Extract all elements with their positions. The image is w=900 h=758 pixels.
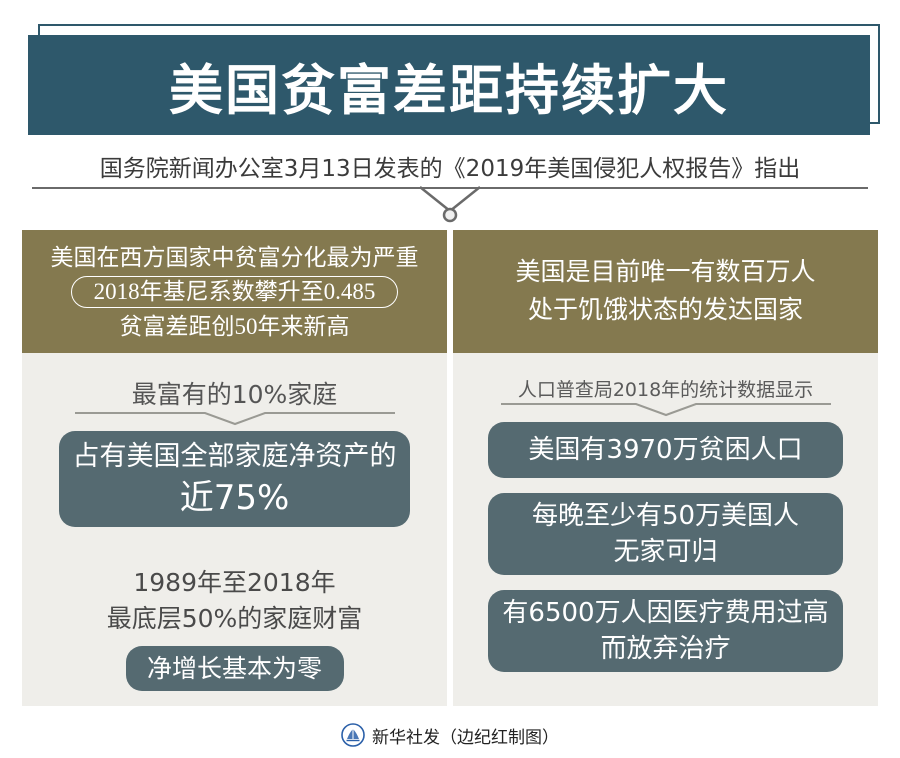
left-panel-body: 最富有的10%家庭 占有美国全部家庭净资产的 近75% 1989年至2018年 … xyxy=(22,353,447,706)
right-callout-1-line-1: 美国有3970万贫困人口 xyxy=(528,432,802,468)
left-callout-main-line-1: 占有美国全部家庭净资产的 xyxy=(73,438,397,476)
right-header-line-2: 处于饥饿状态的发达国家 xyxy=(528,292,803,330)
left-lead-divider xyxy=(75,411,395,427)
left-header-line-3: 贫富差距创50年来新高 xyxy=(120,310,350,343)
right-callout-3-line-1: 有6500万人因医疗费用过高 xyxy=(502,595,828,631)
content-columns: 美国在西方国家中贫富分化最为严重 2018年基尼系数攀升至0.485 贫富差距创… xyxy=(22,230,878,706)
left-callout-zero-text: 净增长基本为零 xyxy=(147,651,322,687)
xinhua-logo-icon xyxy=(341,723,365,747)
left-callout-zero: 净增长基本为零 xyxy=(126,646,344,691)
footer: 新华社发（边纪红制图） xyxy=(0,712,900,758)
left-header-line-1: 美国在西方国家中贫富分化最为严重 xyxy=(51,241,419,274)
left-callout-main-line-2: 近75% xyxy=(180,476,290,520)
title-banner: 美国贫富差距持续扩大 xyxy=(28,35,870,135)
right-panel-header: 美国是目前唯一有数百万人 处于饥饿状态的发达国家 xyxy=(453,230,878,353)
chevron-down-icon xyxy=(501,402,831,418)
left-callout-main: 占有美国全部家庭净资产的 近75% xyxy=(59,431,410,527)
right-callout-3: 有6500万人因医疗费用过高 而放弃治疗 xyxy=(488,590,843,672)
pin-marker-icon xyxy=(400,181,500,225)
page-title: 美国贫富差距持续扩大 xyxy=(169,46,729,125)
right-lead-divider xyxy=(501,402,831,418)
subtitle-text: 国务院新闻办公室3月13日发表的《2019年美国侵犯人权报告》指出 xyxy=(0,149,900,183)
right-panel: 美国是目前唯一有数百万人 处于饥饿状态的发达国家 人口普查局2018年的统计数据… xyxy=(453,230,878,706)
left-panel-header: 美国在西方国家中贫富分化最为严重 2018年基尼系数攀升至0.485 贫富差距创… xyxy=(22,230,447,353)
left-lead-label: 最富有的10%家庭 xyxy=(132,375,338,411)
right-callout-2: 每晚至少有50万美国人 无家可归 xyxy=(488,493,843,575)
right-lead-label: 人口普查局2018年的统计数据显示 xyxy=(518,375,813,402)
footer-credit: 新华社发（边纪红制图） xyxy=(372,723,559,748)
right-callout-2-line-2: 无家可归 xyxy=(613,534,717,570)
chevron-down-icon xyxy=(75,411,395,427)
title-area: 美国贫富差距持续扩大 xyxy=(0,0,900,145)
left-header-pill: 2018年基尼系数攀升至0.485 xyxy=(71,276,399,308)
right-callout-1: 美国有3970万贫困人口 xyxy=(488,422,843,478)
left-plain-line-2: 最底层50%的家庭财富 xyxy=(107,601,363,637)
subtitle-area: 国务院新闻办公室3月13日发表的《2019年美国侵犯人权报告》指出 xyxy=(0,145,900,225)
left-panel: 美国在西方国家中贫富分化最为严重 2018年基尼系数攀升至0.485 贫富差距创… xyxy=(22,230,447,706)
right-callout-3-line-2: 而放弃治疗 xyxy=(600,631,730,667)
left-plain-line-1: 1989年至2018年 xyxy=(133,565,335,601)
right-callout-2-line-1: 每晚至少有50万美国人 xyxy=(532,498,799,534)
right-header-line-1: 美国是目前唯一有数百万人 xyxy=(515,254,815,292)
right-panel-body: 人口普查局2018年的统计数据显示 美国有3970万贫困人口 每晚至少有50万美… xyxy=(453,353,878,706)
